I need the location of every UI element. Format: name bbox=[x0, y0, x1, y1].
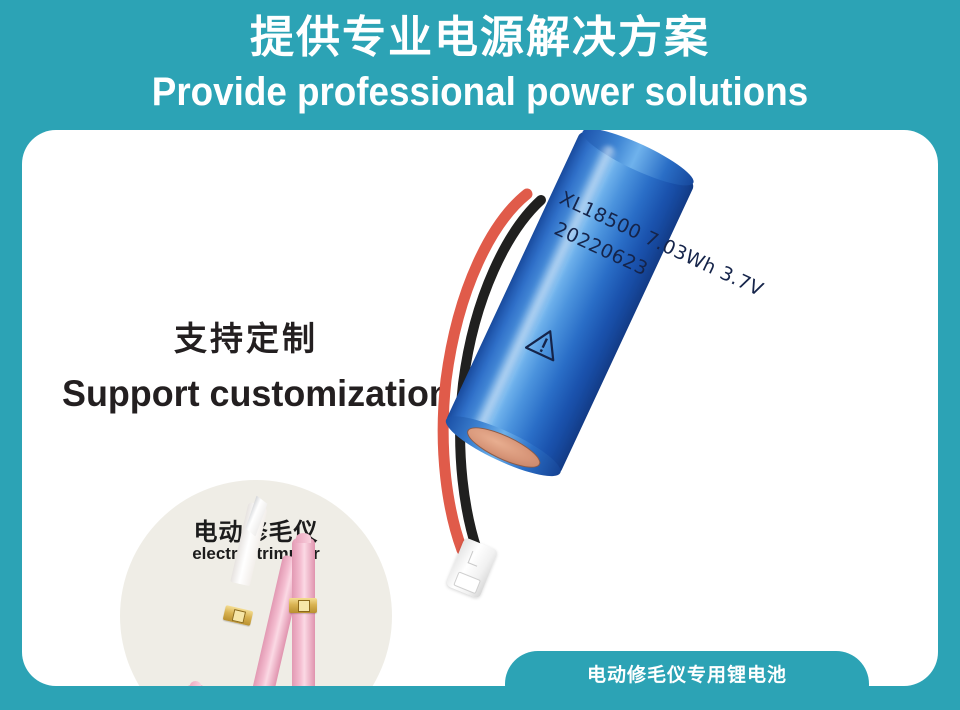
jst-connector bbox=[446, 537, 499, 599]
header-title-cn: 提供专业电源解决方案 bbox=[0, 12, 960, 64]
battery-cell: XL18500 7.03Wh 3.7V 20220623 bbox=[443, 130, 697, 479]
header: 提供专业电源解决方案 Provide professional power so… bbox=[0, 0, 960, 128]
battery-assembly: XL18500 7.03Wh 3.7V 20220623 bbox=[22, 130, 938, 686]
promo-banner: 提供专业电源解决方案 Provide professional power so… bbox=[0, 0, 960, 710]
header-title-en: Provide professional power solutions bbox=[38, 68, 921, 116]
content-card: 支持定制 Support customization 电动修毛仪 electri… bbox=[22, 130, 938, 686]
caption-banner: 电动修毛仪专用锂电池 Lithium battery for Hydro-opt… bbox=[505, 651, 869, 686]
caption-text-cn: 电动修毛仪专用锂电池 bbox=[505, 660, 869, 686]
